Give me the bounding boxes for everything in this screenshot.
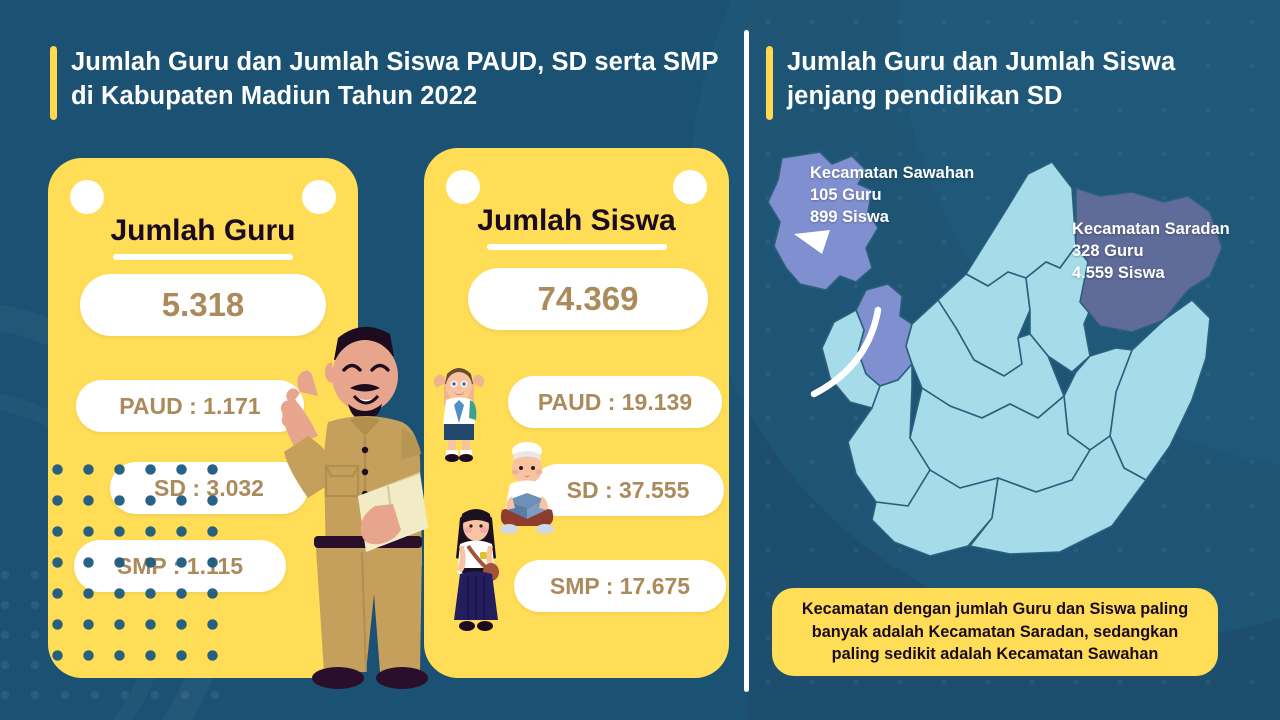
siswa-smp-pill: SMP : 17.675 xyxy=(514,560,726,612)
title-accent-bar xyxy=(766,46,773,120)
right-title-text: Jumlah Guru dan Jumlah Siswa jenjang pen… xyxy=(787,46,1236,120)
right-panel-title: Jumlah Guru dan Jumlah Siswa jenjang pen… xyxy=(766,46,1236,120)
vertical-divider xyxy=(744,30,749,692)
map-label-saradan-name: Kecamatan Saradan xyxy=(1072,218,1230,240)
guru-smp-pill: SMP : 1.115 xyxy=(74,540,286,592)
map-label-sawahan-guru: 105 Guru xyxy=(810,184,974,206)
punch-hole-icon xyxy=(70,180,104,214)
left-title-text: Jumlah Guru dan Jumlah Siswa PAUD, SD se… xyxy=(71,46,730,120)
map-label-saradan-siswa: 4.559 Siswa xyxy=(1072,262,1230,284)
infographic-canvas: Jumlah Guru dan Jumlah Siswa PAUD, SD se… xyxy=(0,0,1280,720)
map-caption-box: Kecamatan dengan jumlah Guru dan Siswa p… xyxy=(772,588,1218,676)
siswa-paud-pill: PAUD : 19.139 xyxy=(508,376,722,428)
map-kabupaten-madiun: Kecamatan Sawahan 105 Guru 899 Siswa Kec… xyxy=(760,150,1260,570)
card-heading-siswa: Jumlah Siswa xyxy=(424,204,729,238)
title-accent-bar xyxy=(50,46,57,120)
map-label-sawahan-siswa: 899 Siswa xyxy=(810,206,974,228)
card-underline-rule xyxy=(113,254,293,260)
map-label-saradan: Kecamatan Saradan 328 Guru 4.559 Siswa xyxy=(1072,218,1230,284)
map-label-sawahan: Kecamatan Sawahan 105 Guru 899 Siswa xyxy=(810,162,974,228)
punch-hole-icon xyxy=(673,170,707,204)
siswa-total-pill: 74.369 xyxy=(468,268,708,330)
map-caption-text: Kecamatan dengan jumlah Guru dan Siswa p… xyxy=(786,598,1204,665)
left-panel-title: Jumlah Guru dan Jumlah Siswa PAUD, SD se… xyxy=(50,46,730,120)
map-label-saradan-guru: 328 Guru xyxy=(1072,240,1230,262)
card-underline-rule xyxy=(487,244,667,250)
punch-hole-icon xyxy=(302,180,336,214)
student-smp-illustration-icon xyxy=(446,500,506,640)
card-heading-guru: Jumlah Guru xyxy=(48,214,358,248)
map-label-sawahan-name: Kecamatan Sawahan xyxy=(810,162,974,184)
punch-hole-icon xyxy=(446,170,480,204)
student-sd-illustration-icon xyxy=(428,358,490,468)
